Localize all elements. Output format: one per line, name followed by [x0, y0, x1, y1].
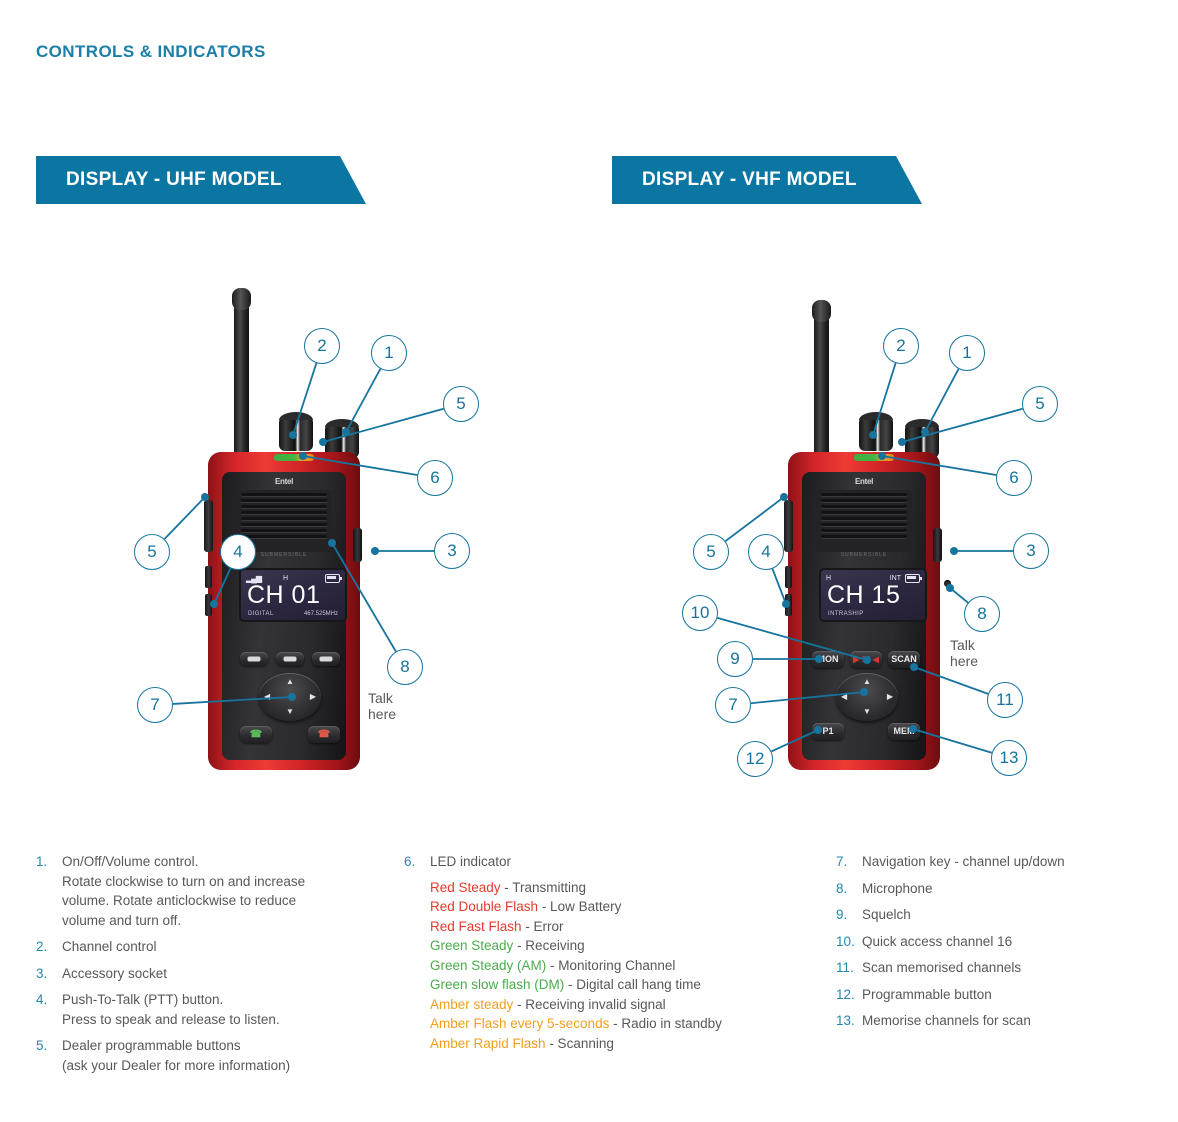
legend-item: 12.Programmable button: [836, 985, 1156, 1005]
legend-item-line: Accessory socket: [62, 964, 366, 984]
led-state-description: - Receiving invalid signal: [513, 997, 665, 1012]
legend-item-text: Channel control: [62, 937, 366, 957]
brand-logo: Entel: [802, 477, 926, 486]
legend-item-line: Push-To-Talk (PTT) button.: [62, 990, 366, 1010]
led-state-item: Red Fast Flash - Error: [430, 917, 824, 937]
led-state-list: Red Steady - TransmittingRed Double Flas…: [430, 878, 824, 1054]
legend-item-number: 7.: [836, 852, 862, 872]
led-state-label: Amber steady: [430, 997, 513, 1012]
legend-item-text: On/Off/Volume control.Rotate clockwise t…: [62, 852, 366, 930]
nav-down-icon[interactable]: ▼: [863, 708, 871, 716]
talk-here-label-vhf: Talk here: [950, 637, 978, 669]
microphone: [330, 540, 337, 547]
legend-item-number: 11.: [836, 958, 862, 978]
legend-column-2: 6.LED indicatorRed Steady - Transmitting…: [404, 852, 824, 1060]
talk-here-label-uhf: Talk here: [368, 690, 396, 722]
programmable-side-button-1[interactable]: [205, 566, 212, 588]
led-state-label: Green slow flash (DM): [430, 977, 564, 992]
led-state-description: - Monitoring Channel: [546, 958, 675, 973]
monitor-button[interactable]: MON: [812, 651, 844, 668]
ptt-button[interactable]: [784, 500, 793, 552]
hangup-button[interactable]: ☎: [308, 726, 340, 743]
accessory-socket[interactable]: [353, 528, 362, 562]
nav-right-icon[interactable]: ▶: [887, 693, 893, 701]
led-state-item: Amber Rapid Flash - Scanning: [430, 1034, 824, 1054]
legend-item-text: Scan memorised channels: [862, 958, 1156, 978]
callout-8: 8: [387, 649, 423, 685]
accessory-socket[interactable]: [933, 528, 942, 562]
banner-uhf: DISPLAY - UHF MODEL: [36, 156, 366, 204]
legend-item-text: Push-To-Talk (PTT) button.Press to speak…: [62, 990, 366, 1029]
banner-vhf-label: DISPLAY - VHF MODEL: [642, 156, 857, 204]
callout-7: 7: [137, 687, 173, 723]
legend-item-number: 4.: [36, 990, 62, 1029]
legend-item: 7.Navigation key - channel up/down: [836, 852, 1156, 872]
legend-item-number: 1.: [36, 852, 62, 930]
ptt-button[interactable]: [204, 500, 213, 552]
banner-uhf-label: DISPLAY - UHF MODEL: [66, 156, 282, 204]
callout-13: 13: [991, 740, 1027, 776]
callout-1: 1: [949, 335, 985, 371]
channel-16-button[interactable]: ▶ 16 ◀: [850, 651, 882, 668]
antenna: [814, 310, 829, 463]
legend-item-line: Press to speak and release to listen.: [62, 1010, 366, 1030]
legend-column-3: 7.Navigation key - channel up/down8.Micr…: [836, 852, 1156, 1038]
led-indicator: [854, 454, 894, 461]
legend-item: 8.Microphone: [836, 879, 1156, 899]
scan-button[interactable]: SCAN: [888, 651, 920, 668]
antenna: [234, 298, 249, 463]
led-state-label: Red Steady: [430, 880, 501, 895]
legend-item: 11.Scan memorised channels: [836, 958, 1156, 978]
legend-item-text: Dealer programmable buttons(ask your Dea…: [62, 1036, 366, 1075]
legend-item-line: volume. Rotate anticlockwise to reduce: [62, 891, 366, 911]
legend-item: 1.On/Off/Volume control.Rotate clockwise…: [36, 852, 366, 930]
callout-4: 4: [748, 534, 784, 570]
legend-item-number: 2.: [36, 937, 62, 957]
nav-right-icon[interactable]: ▶: [310, 693, 316, 701]
display-screen: H INT CH 15 INTRASHIP: [819, 568, 927, 622]
callout-3: 3: [1013, 533, 1049, 569]
legend-item-text: LED indicatorRed Steady - TransmittingRe…: [430, 852, 824, 1053]
legend-item-number: 6.: [404, 852, 430, 1053]
callout-5: 5: [134, 534, 170, 570]
page-title: CONTROLS & INDICATORS: [36, 42, 266, 62]
callout-8: 8: [964, 596, 1000, 632]
nav-left-icon[interactable]: ◀: [264, 693, 270, 701]
led-state-label: Red Fast Flash: [430, 919, 522, 934]
callout-10: 10: [682, 595, 718, 631]
callout-2: 2: [304, 328, 340, 364]
led-state-label: Amber Flash every 5-seconds: [430, 1016, 609, 1031]
led-indicator: [274, 454, 314, 461]
led-state-description: - Transmitting: [501, 880, 587, 895]
legend-item-line: volume and turn off.: [62, 911, 366, 931]
led-state-description: - Error: [522, 919, 564, 934]
led-state-item: Amber Flash every 5-seconds - Radio in s…: [430, 1014, 824, 1034]
navigation-key[interactable]: ▲ ▼ ◀ ▶: [259, 673, 321, 721]
led-state-item: Green Steady (AM) - Monitoring Channel: [430, 956, 824, 976]
legend-item: 9.Squelch: [836, 905, 1156, 925]
legend-item: 2.Channel control: [36, 937, 366, 957]
display-screen: ▂▄▆ H CH 01 DIGITAL 467.525MHz: [239, 568, 347, 622]
legend-item-line: Programmable button: [862, 985, 1156, 1005]
callout-5: 5: [443, 386, 479, 422]
nav-up-icon[interactable]: ▲: [286, 678, 294, 686]
callout-1: 1: [371, 335, 407, 371]
frequency-label: 467.525MHz: [304, 611, 338, 617]
navigation-key[interactable]: ▲ ▼ ◀ ▶: [836, 673, 898, 721]
led-state-label: Green Steady (AM): [430, 958, 546, 973]
submersible-label: SUBMERSIBLE: [816, 552, 912, 558]
programmable-side-button-1[interactable]: [785, 566, 792, 588]
led-state-item: Red Double Flash - Low Battery: [430, 897, 824, 917]
legend-item: 6.LED indicatorRed Steady - Transmitting…: [404, 852, 824, 1053]
channel-mode-label: DIGITAL: [248, 611, 274, 617]
legend-item-number: 5.: [36, 1036, 62, 1075]
led-state-label: Green Steady: [430, 938, 513, 953]
legend-item-line: Memorise channels for scan: [862, 1011, 1156, 1031]
callout-9: 9: [717, 641, 753, 677]
memorise-button[interactable]: MEM: [888, 723, 920, 740]
channel-mode-label: INTRASHIP: [828, 611, 864, 617]
legend-item-line: Microphone: [862, 879, 1156, 899]
led-state-item: Green slow flash (DM) - Digital call han…: [430, 975, 824, 995]
legend-item-line: Squelch: [862, 905, 1156, 925]
legend-item-line: (ask your Dealer for more information): [62, 1056, 366, 1076]
callout-2: 2: [883, 328, 919, 364]
legend-item-line: Dealer programmable buttons: [62, 1036, 366, 1056]
callout-3: 3: [434, 533, 470, 569]
legend-item: 4.Push-To-Talk (PTT) button.Press to spe…: [36, 990, 366, 1029]
legend-item-text: Squelch: [862, 905, 1156, 925]
nav-left-icon[interactable]: ◀: [841, 693, 847, 701]
legend-item-number: 3.: [36, 964, 62, 984]
antenna-tip: [812, 300, 831, 322]
channel-control-knob[interactable]: [279, 417, 313, 451]
programmable-side-button-2[interactable]: [205, 594, 212, 616]
legend-item-line: Navigation key - channel up/down: [862, 852, 1156, 872]
callout-11: 11: [987, 682, 1023, 718]
legend-column-1: 1.On/Off/Volume control.Rotate clockwise…: [36, 852, 366, 1082]
legend-item-line: Scan memorised channels: [862, 958, 1156, 978]
legend-item-text: Accessory socket: [62, 964, 366, 984]
legend-item-number: 12.: [836, 985, 862, 1005]
led-state-description: - Scanning: [546, 1036, 614, 1051]
brand-logo: Entel: [222, 477, 346, 486]
programmable-side-button-2[interactable]: [785, 594, 792, 616]
legend-item-line: Quick access channel 16: [862, 932, 1156, 952]
softkey-2[interactable]: [276, 652, 304, 666]
antenna-tip: [232, 288, 251, 310]
legend-item: 5.Dealer programmable buttons(ask your D…: [36, 1036, 366, 1075]
channel-number: CH 01: [247, 582, 341, 608]
callout-4: 4: [220, 534, 256, 570]
led-state-description: - Receiving: [513, 938, 584, 953]
led-state-label: Red Double Flash: [430, 899, 538, 914]
legend-item: 10.Quick access channel 16: [836, 932, 1156, 952]
legend-item-text: Programmable button: [862, 985, 1156, 1005]
programmable-button-p1[interactable]: P1: [812, 723, 844, 740]
legend-item-number: 13.: [836, 1011, 862, 1031]
legend-item-text: Navigation key - channel up/down: [862, 852, 1156, 872]
legend-item-number: 10.: [836, 932, 862, 952]
callout-6: 6: [417, 460, 453, 496]
callout-7: 7: [715, 687, 751, 723]
legend-item-line: On/Off/Volume control.: [62, 852, 366, 872]
legend-item-number: 9.: [836, 905, 862, 925]
channel-control-knob[interactable]: [859, 417, 893, 451]
callout-12: 12: [737, 741, 773, 777]
led-state-description: - Digital call hang time: [564, 977, 701, 992]
legend-item-line: Channel control: [62, 937, 366, 957]
led-state-item: Green Steady - Receiving: [430, 936, 824, 956]
callout-5: 5: [1022, 386, 1058, 422]
led-state-item: Amber steady - Receiving invalid signal: [430, 995, 824, 1015]
led-state-item: Red Steady - Transmitting: [430, 878, 824, 898]
led-indicator-title: LED indicator: [430, 852, 824, 872]
banner-vhf: DISPLAY - VHF MODEL: [612, 156, 922, 204]
callout-5: 5: [693, 534, 729, 570]
legend-item-number: 8.: [836, 879, 862, 899]
led-state-label: Amber Rapid Flash: [430, 1036, 546, 1051]
led-state-description: - Low Battery: [538, 899, 621, 914]
legend-item: 3.Accessory socket: [36, 964, 366, 984]
legend-item-text: Quick access channel 16: [862, 932, 1156, 952]
call-button[interactable]: ☎: [240, 726, 272, 743]
legend-item-line: Rotate clockwise to turn on and increase: [62, 872, 366, 892]
speaker-grille: [816, 490, 912, 552]
legend-item-text: Microphone: [862, 879, 1156, 899]
led-state-description: - Radio in standby: [609, 1016, 722, 1031]
softkey-1[interactable]: [240, 652, 268, 666]
legend-item-text: Memorise channels for scan: [862, 1011, 1156, 1031]
legend-item: 13.Memorise channels for scan: [836, 1011, 1156, 1031]
nav-down-icon[interactable]: ▼: [286, 708, 294, 716]
callout-6: 6: [996, 460, 1032, 496]
microphone: [944, 580, 951, 587]
softkey-3[interactable]: [312, 652, 340, 666]
nav-up-icon[interactable]: ▲: [863, 678, 871, 686]
channel-number: CH 15: [827, 582, 921, 608]
